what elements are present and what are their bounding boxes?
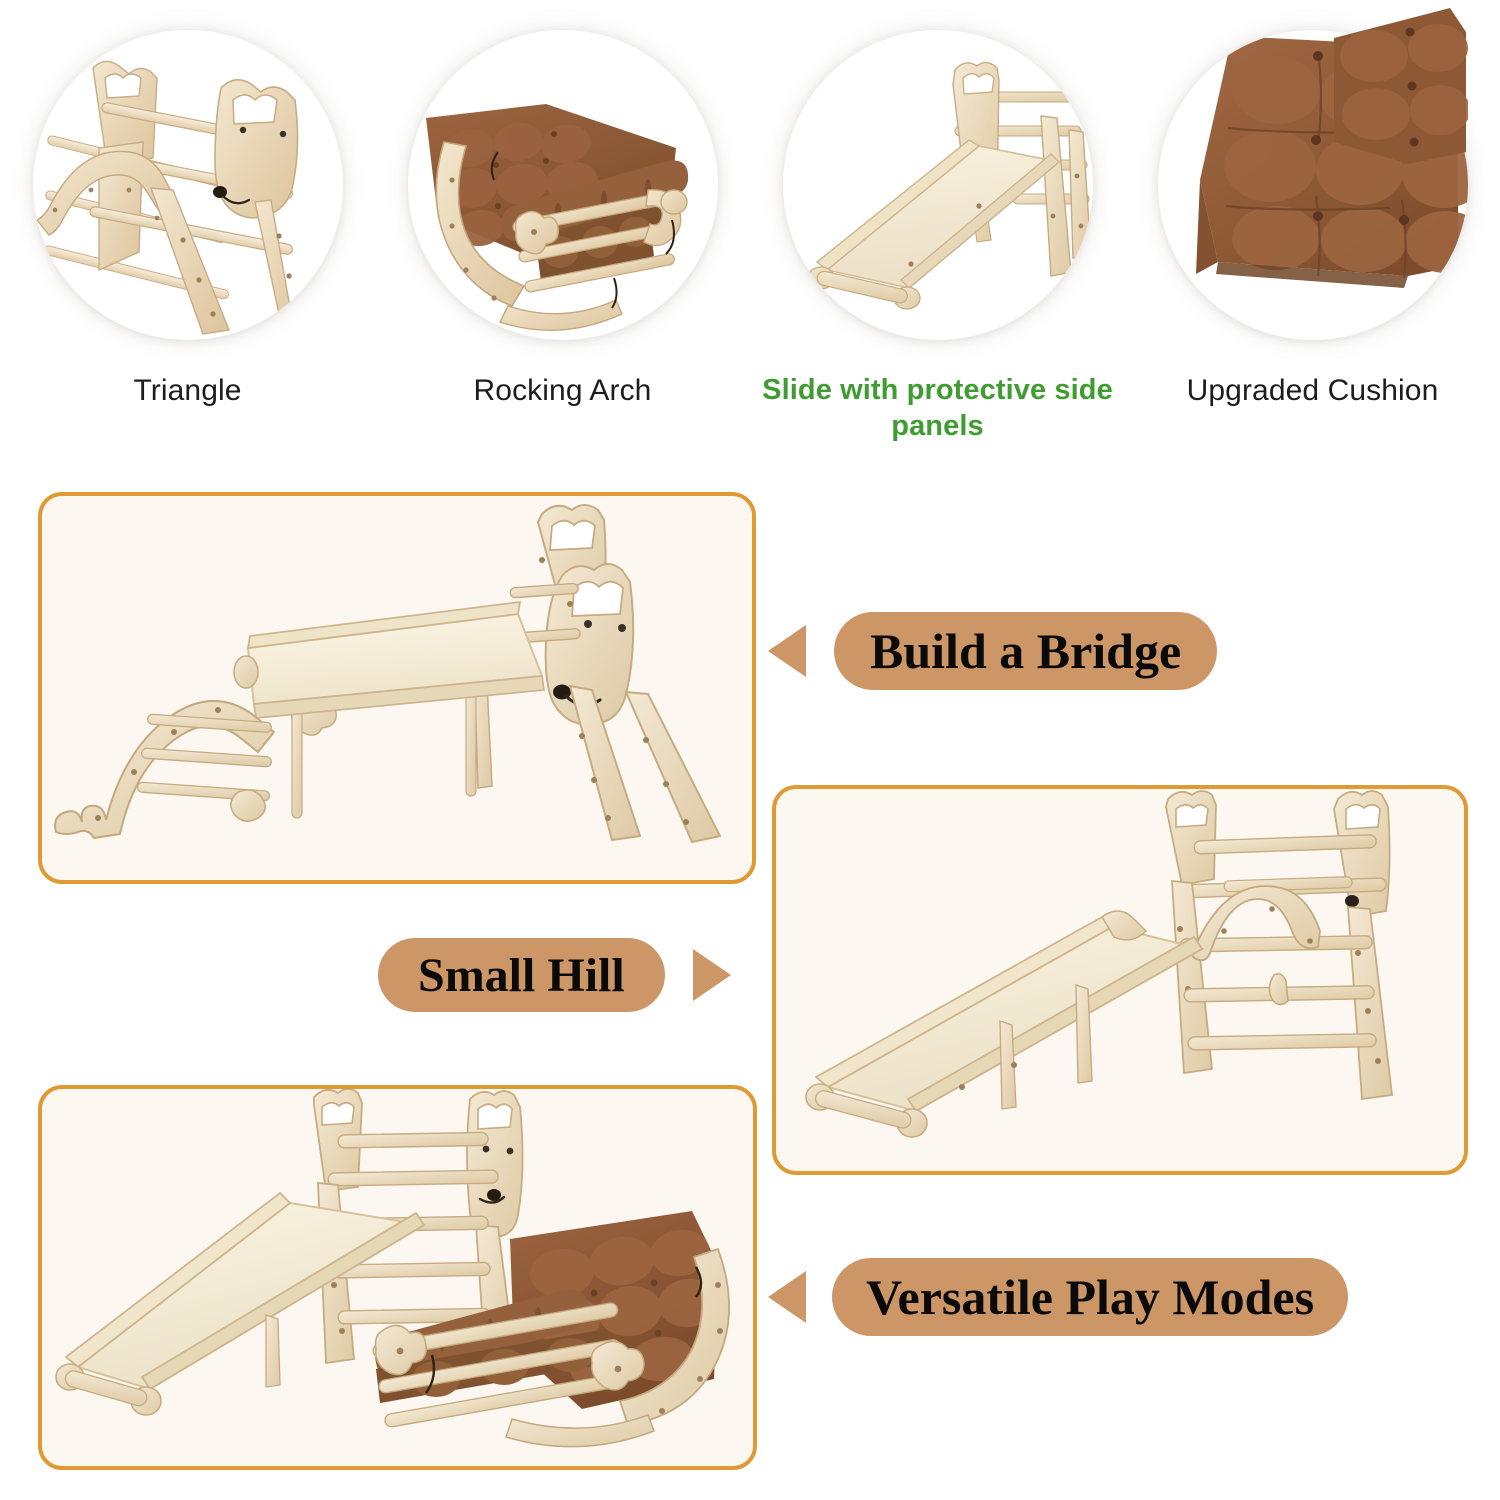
- feature-cell-slide: Slide with protective side panels: [750, 0, 1125, 470]
- feature-circle-row: Triangle: [0, 0, 1500, 470]
- slide-with-side-panels-illustration: [783, 30, 1093, 340]
- feature-thumb-cushion[interactable]: [1158, 30, 1468, 340]
- feature-thumb-slide[interactable]: [783, 30, 1093, 340]
- badge-versatile-play-modes[interactable]: Versatile Play Modes: [832, 1258, 1348, 1336]
- callout-small-hill: Small Hill: [378, 938, 731, 1012]
- feature-label-triangle: Triangle: [0, 372, 375, 410]
- feature-label-cushion: Upgraded Cushion: [1125, 372, 1500, 410]
- callout-versatile-play-modes: Versatile Play Modes: [768, 1258, 1348, 1336]
- badge-build-a-bridge[interactable]: Build a Bridge: [834, 612, 1217, 690]
- arrow-left-icon: [768, 625, 806, 677]
- callout-build-a-bridge: Build a Bridge: [768, 612, 1217, 690]
- infographic-root: Triangle: [0, 0, 1500, 1500]
- arrow-right-icon: [693, 949, 731, 1001]
- versatile-play-modes-illustration: [42, 1089, 753, 1466]
- panel-build-a-bridge: [38, 492, 756, 884]
- arrow-left-icon: [768, 1271, 806, 1323]
- badge-small-hill[interactable]: Small Hill: [378, 938, 665, 1012]
- rocking-arch-illustration: [408, 30, 718, 340]
- feature-cell-rocking-arch: Rocking Arch: [375, 0, 750, 470]
- bridge-configuration-illustration: [42, 496, 752, 880]
- cushion-overflow: [1328, 2, 1468, 172]
- feature-cell-cushion: Upgraded Cushion: [1125, 0, 1500, 470]
- triangle-climber-illustration: [33, 30, 343, 340]
- panel-small-hill: [772, 785, 1468, 1175]
- feature-cell-triangle: Triangle: [0, 0, 375, 470]
- feature-thumb-triangle[interactable]: [33, 30, 343, 340]
- feature-thumb-rocking-arch[interactable]: [408, 30, 718, 340]
- panel-versatile-play-modes: [38, 1085, 757, 1470]
- feature-label-slide: Slide with protective side panels: [750, 372, 1125, 445]
- feature-label-rocking-arch: Rocking Arch: [375, 372, 750, 410]
- small-hill-configuration-illustration: [776, 789, 1464, 1171]
